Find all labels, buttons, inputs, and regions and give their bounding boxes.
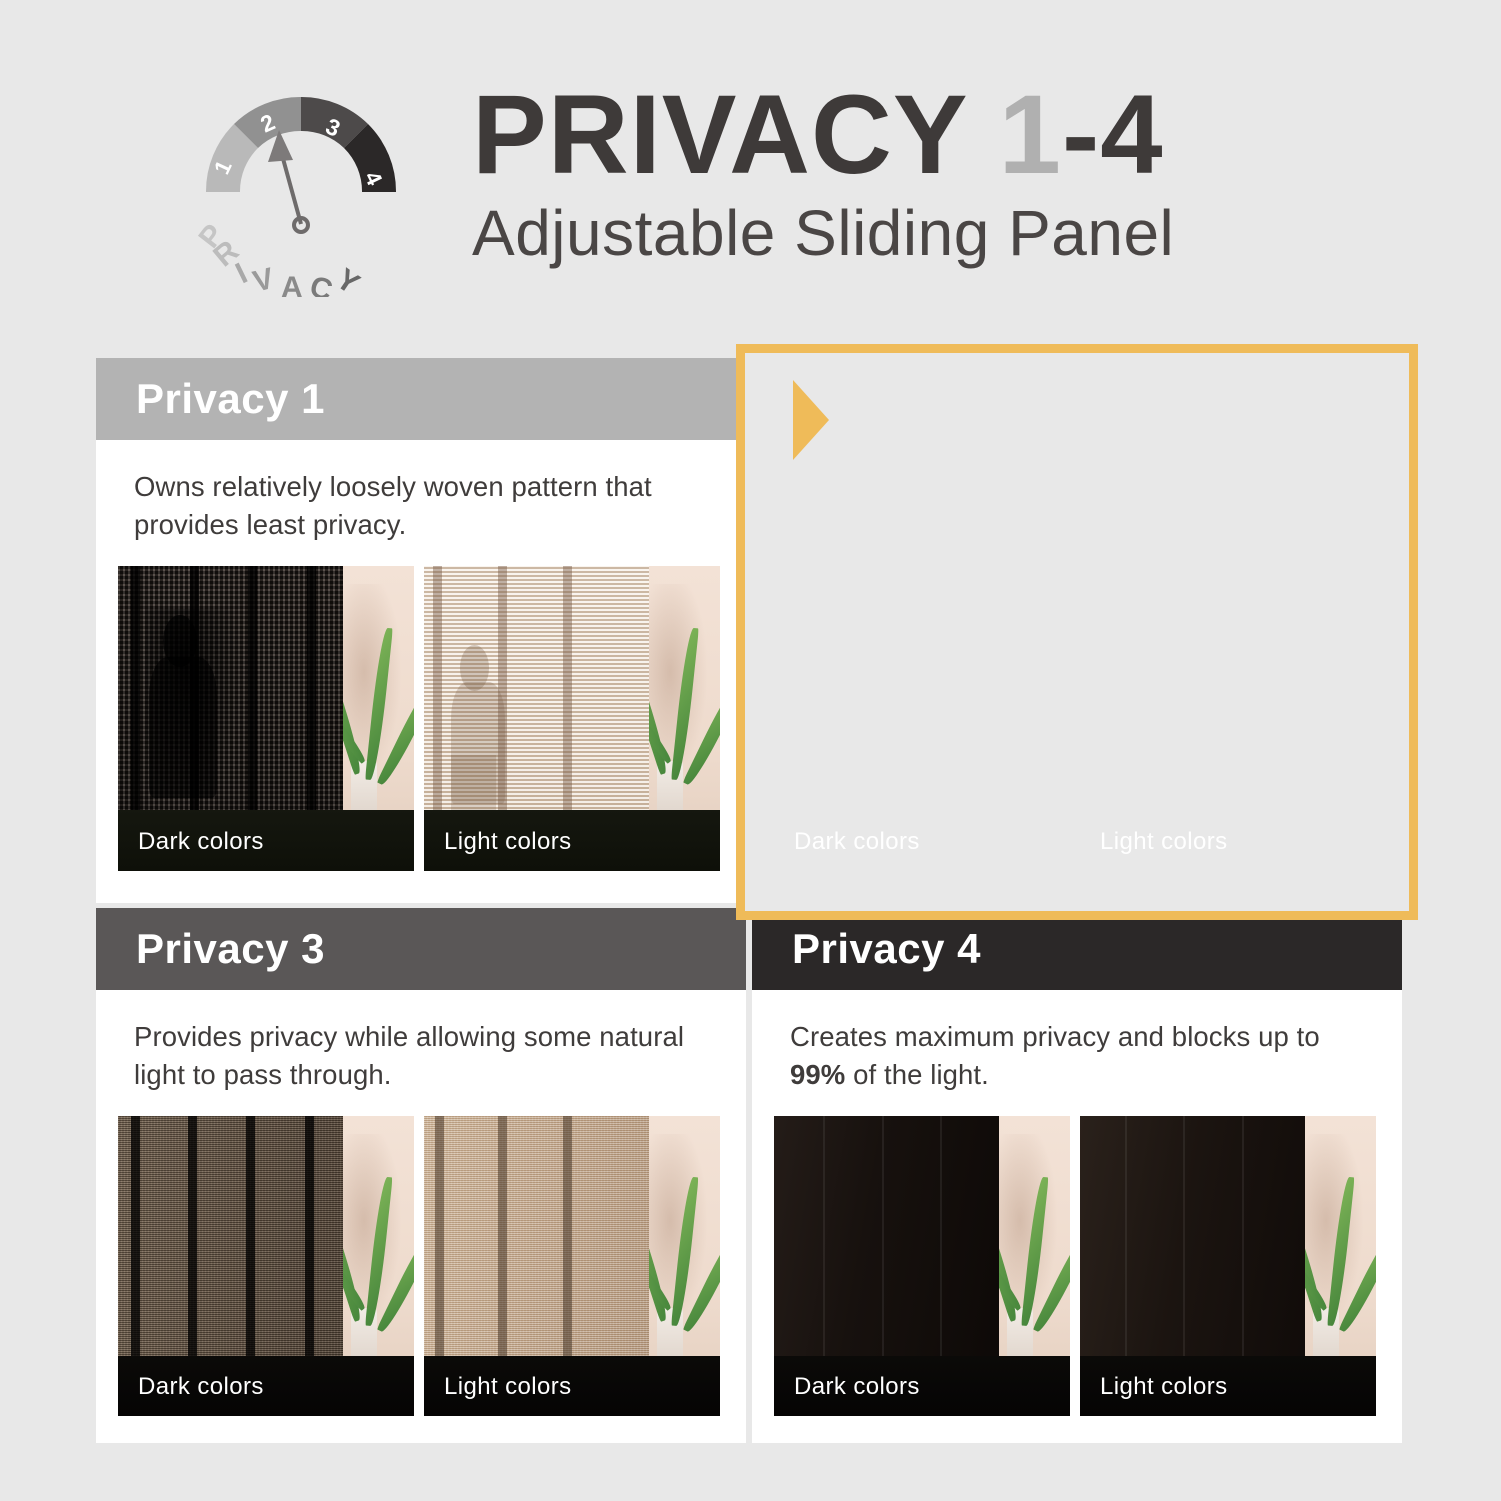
card-4-body: Privacy 4 Creates maximum privacy and bl…	[752, 908, 1402, 1443]
card-3-body: Privacy 3 Provides privacy while allowin…	[96, 908, 746, 1443]
card-2-photo-dark-label: Dark colors	[774, 813, 1070, 871]
card-4-desc-percent: 99%	[790, 1059, 845, 1090]
card-4-photo-light-label: Light colors	[1080, 1358, 1376, 1416]
title-number-start: 1	[999, 72, 1062, 197]
card-4-photo-row: Dark colors	[752, 1094, 1402, 1442]
card-3-title: Privacy 3	[136, 925, 325, 973]
privacy-card-1[interactable]: Privacy 1 Owns relatively loosely woven …	[96, 358, 746, 903]
card-1-description: Owns relatively loosely woven pattern th…	[134, 468, 708, 544]
svg-text:Y: Y	[330, 262, 365, 297]
card-3-description: Provides privacy while allowing some nat…	[134, 1018, 708, 1094]
gauge-svg: 1 2 3 4 P R I V A C Y	[196, 72, 406, 297]
card-4-text-area: Creates maximum privacy and blocks up to…	[752, 990, 1402, 1094]
title-word: PRIVACY	[472, 72, 967, 197]
card-3-photo-row: Dark colors	[96, 1094, 746, 1442]
title-main-line: PRIVACY 1-4	[472, 78, 1332, 192]
page-subtitle: Adjustable Sliding Panel	[472, 196, 1332, 270]
title-dash: -	[1062, 72, 1100, 197]
card-1-photo-row: Dark colors	[96, 544, 746, 897]
card-1-header: Privacy 1	[96, 358, 746, 440]
card-4-title: Privacy 4	[792, 925, 981, 973]
card-3-photo-dark[interactable]: Dark colors	[118, 1116, 414, 1416]
card-1-photo-light[interactable]: Light colors	[424, 566, 720, 871]
card-1-photo-dark-label: Dark colors	[118, 813, 414, 871]
card-1-title: Privacy 1	[136, 375, 325, 423]
silhouette-body	[149, 657, 216, 797]
card-3-photo-light-label: Light colors	[424, 1358, 720, 1416]
title-number-end: 4	[1100, 72, 1163, 197]
highlight-pointer-icon	[793, 380, 829, 460]
gauge-needle	[282, 155, 301, 224]
card-3-header: Privacy 3	[96, 908, 746, 990]
card-4-desc-post: of the light.	[845, 1059, 989, 1090]
card-1-photo-dark[interactable]: Dark colors	[118, 566, 414, 871]
privacy-card-3[interactable]: Privacy 3 Provides privacy while allowin…	[96, 908, 746, 1443]
page-title: PRIVACY 1-4 Adjustable Sliding Panel	[472, 78, 1332, 270]
svg-text:C: C	[306, 270, 336, 297]
page-header: 1 2 3 4 P R I V A C Y PRIVACY 1-4 Adjust…	[0, 0, 1501, 330]
card-1-photo-light-label: Light colors	[424, 813, 720, 871]
card-4-description: Creates maximum privacy and blocks up to…	[790, 1018, 1364, 1094]
card-3-photo-dark-label: Dark colors	[118, 1358, 414, 1416]
card-3-photo-light[interactable]: Light colors	[424, 1116, 720, 1416]
card-4-photo-light[interactable]: Light colors	[1080, 1116, 1376, 1416]
card-4-desc-pre: Creates maximum privacy and blocks up to	[790, 1021, 1320, 1052]
card-4-header: Privacy 4	[752, 908, 1402, 990]
card-4-photo-dark[interactable]: Dark colors	[774, 1116, 1070, 1416]
privacy-card-4[interactable]: Privacy 4 Creates maximum privacy and bl…	[752, 908, 1402, 1443]
privacy-level-gauge: 1 2 3 4 P R I V A C Y	[196, 72, 406, 297]
card-4-photo-dark-label: Dark colors	[774, 1358, 1070, 1416]
gauge-arc-caption: P R I V A C Y	[196, 218, 365, 297]
card-3-text-area: Provides privacy while allowing some nat…	[96, 990, 746, 1094]
card-2-photo-light-label: Light colors	[1080, 813, 1376, 871]
svg-text:V: V	[250, 262, 277, 297]
svg-text:A: A	[281, 271, 303, 297]
card-1-text-area: Owns relatively loosely woven pattern th…	[96, 440, 746, 544]
card-1-body: Privacy 1 Owns relatively loosely woven …	[96, 358, 746, 903]
privacy-card-2[interactable]: Privacy 2 Allows light to gently filter …	[752, 358, 1402, 903]
